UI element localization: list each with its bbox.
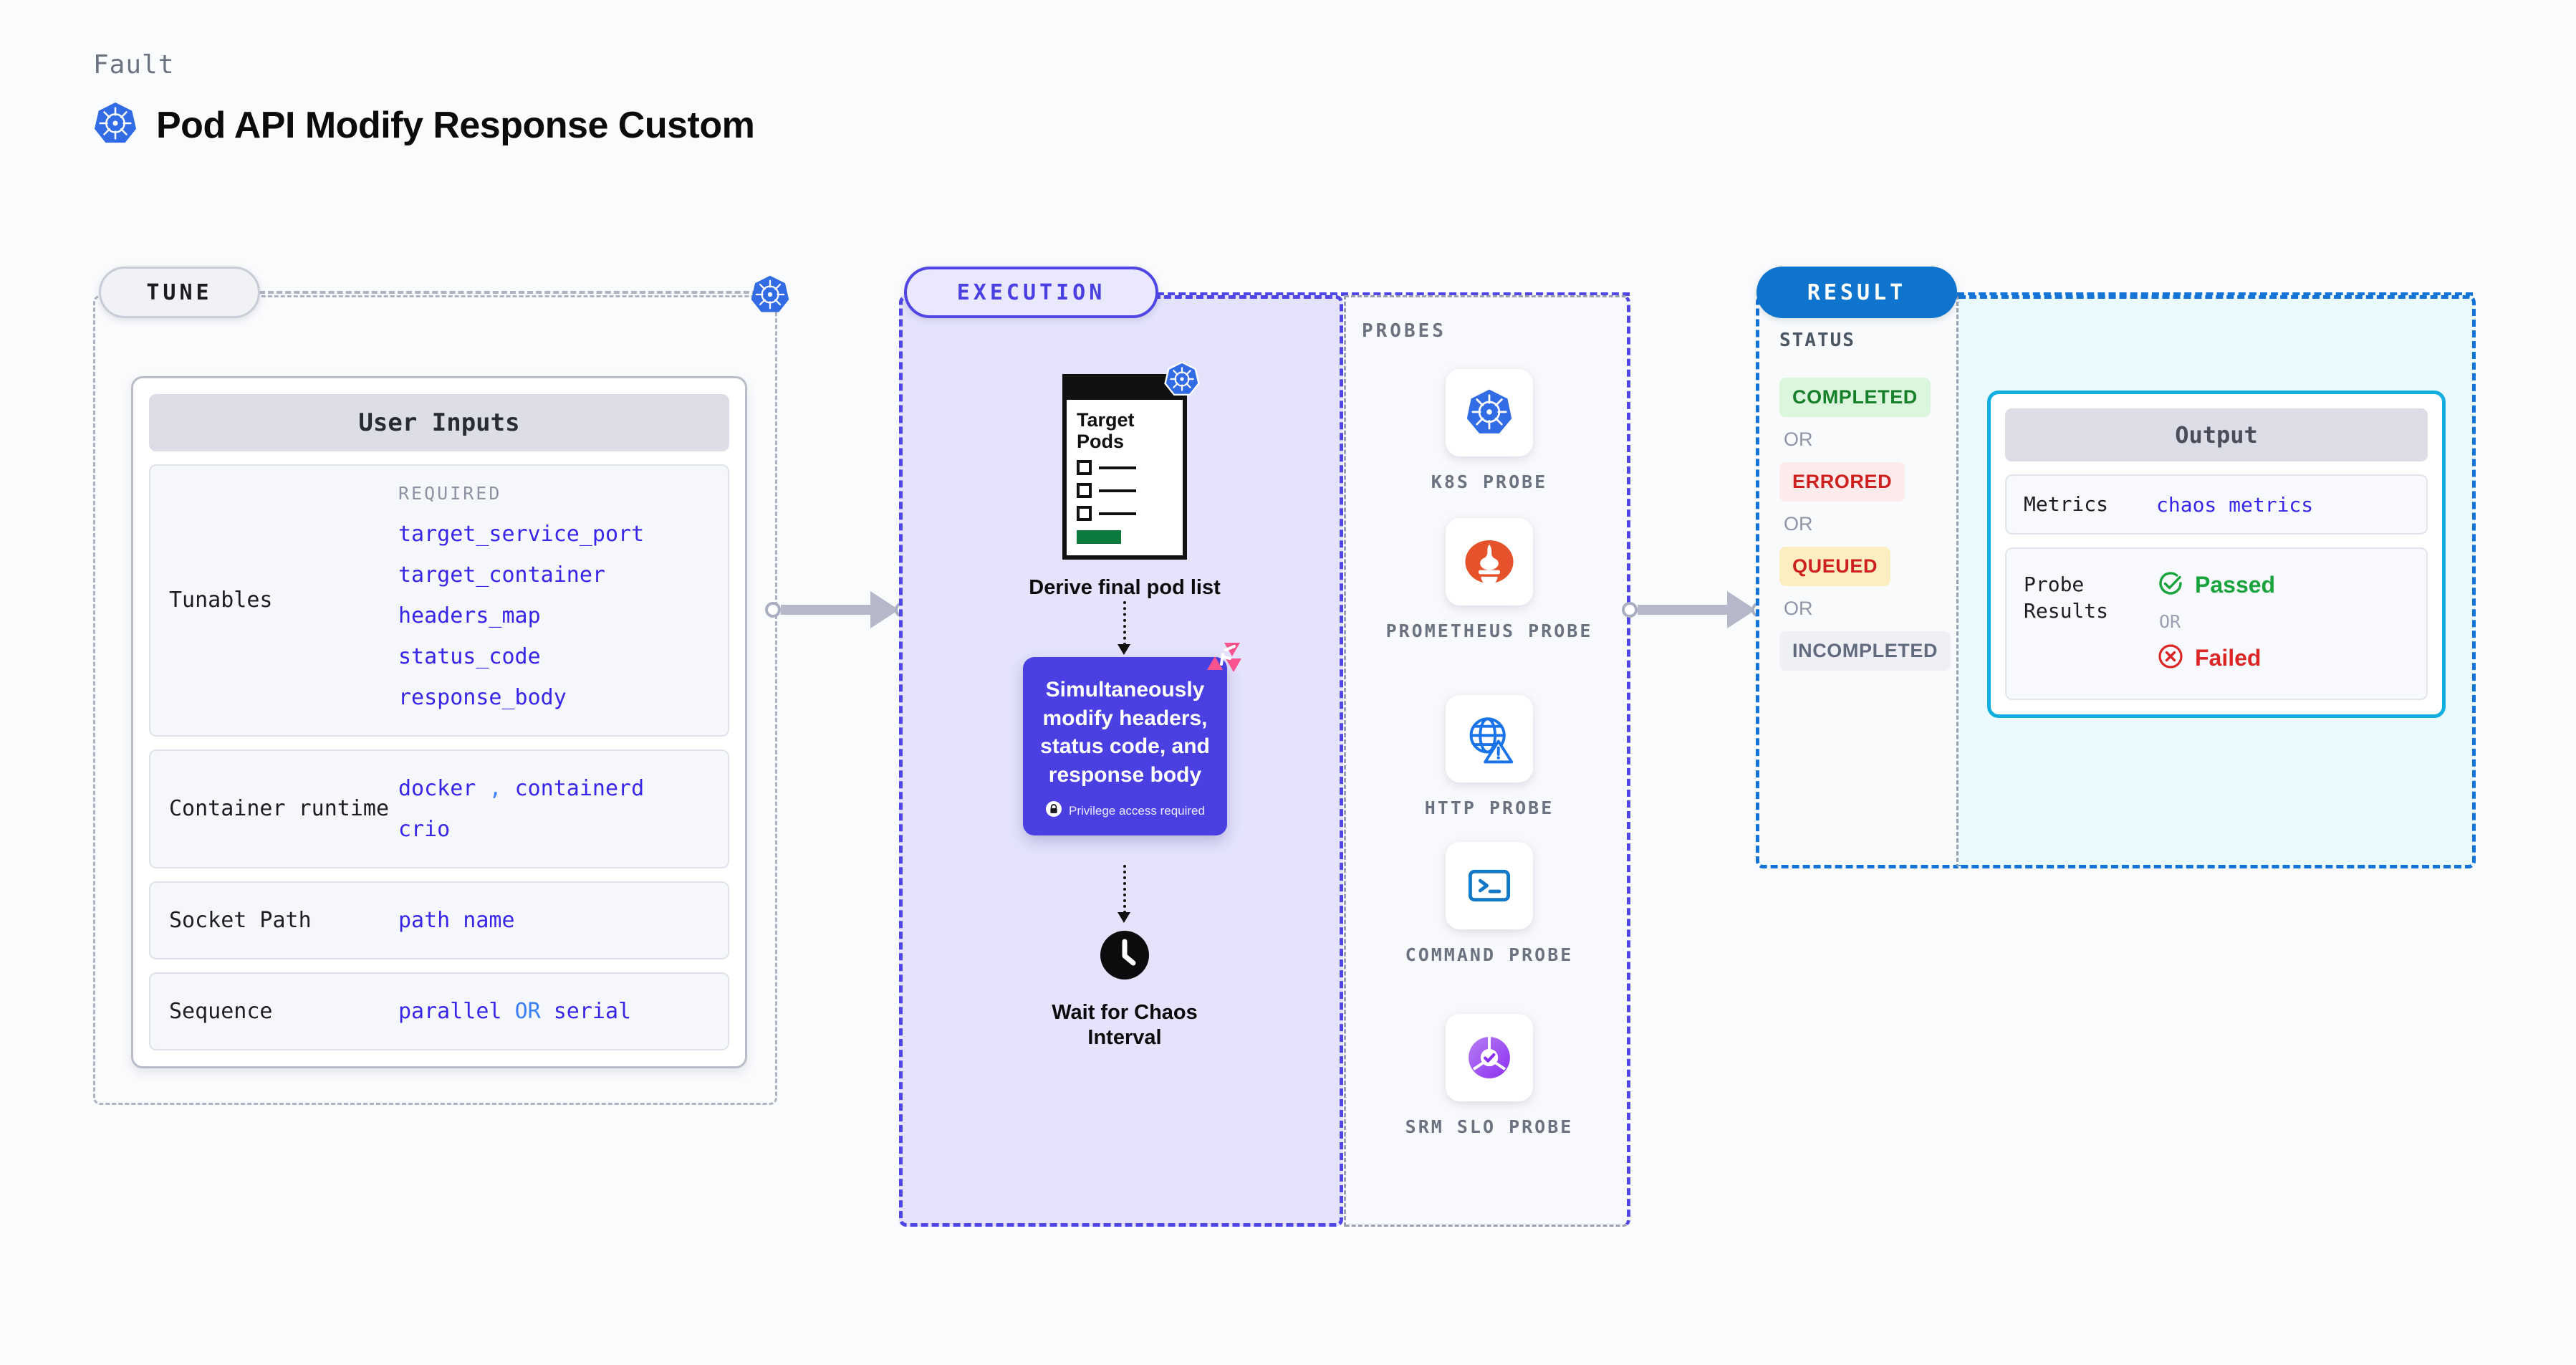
target-pods-title-line2: Pods	[1077, 431, 1173, 453]
target-pods-title-line1: Target	[1077, 410, 1173, 431]
probe-label: SRM SLO PROBE	[1346, 1114, 1633, 1139]
output-card: Output Metrics chaos metrics Probe Resul…	[1987, 391, 2446, 718]
target-pods-card: Target Pods	[1062, 374, 1187, 560]
flow-arrow-2	[1123, 865, 1126, 914]
status-badge: QUEUED	[1779, 547, 1890, 586]
connector-tune-to-execution	[765, 591, 910, 628]
chaos-pinwheel-icon	[1206, 640, 1243, 681]
tune-panel-tag[interactable]: TUNE	[99, 267, 260, 318]
result-panel-tag[interactable]: RESULT	[1756, 267, 1957, 318]
list-rule	[1099, 512, 1136, 515]
sequence-option[interactable]: parallel	[398, 999, 502, 1024]
privilege-note-text: Privilege access required	[1069, 804, 1205, 818]
sequence-separator: OR	[515, 999, 541, 1024]
socket-path-key: Socket Path	[169, 907, 398, 934]
socket-path-value[interactable]: path name	[398, 900, 515, 941]
probe-k8s[interactable]: K8S PROBE	[1346, 369, 1633, 494]
probe-label: HTTP PROBE	[1346, 795, 1633, 820]
tunables-key: Tunables	[169, 587, 398, 614]
tunables-row: Tunables REQUIRED target_service_port ta…	[149, 464, 729, 737]
output-title: Output	[2005, 408, 2428, 461]
globe-warning-icon	[1446, 695, 1533, 782]
checkbox-icon	[1077, 460, 1092, 475]
x-circle-icon	[2156, 642, 2185, 674]
probe-prometheus[interactable]: PROMETHEUS PROBE	[1346, 518, 1633, 643]
status-or: OR	[1784, 428, 1951, 451]
sequence-key: Sequence	[169, 998, 398, 1025]
kubernetes-icon	[93, 101, 138, 149]
runtime-option[interactable]: docker	[398, 776, 476, 801]
target-pods-list-item	[1077, 460, 1173, 475]
runtime-option[interactable]: crio	[398, 809, 644, 850]
probe-result-passed: Passed	[2156, 569, 2275, 601]
srm-slo-icon	[1446, 1014, 1533, 1101]
flow-arrow-1	[1123, 601, 1126, 646]
derive-pod-list-caption: Derive final pod list	[1029, 575, 1221, 600]
connector-bar	[1638, 605, 1727, 615]
kubernetes-icon	[1164, 361, 1200, 401]
probe-results-values: Passed OR Failed	[2156, 569, 2275, 674]
target-pods-list-item	[1077, 483, 1173, 498]
tunable-item[interactable]: headers_map	[398, 595, 644, 636]
probe-result-failed: Failed	[2156, 642, 2275, 674]
wait-caption-line2: Interval	[1052, 1025, 1198, 1050]
probe-command[interactable]: COMMAND PROBE	[1346, 842, 1633, 967]
flow-arrowhead-1	[1118, 644, 1130, 655]
progress-bar-indicator	[1077, 530, 1121, 544]
tune-dashed-connector	[259, 291, 775, 294]
prometheus-icon	[1446, 518, 1533, 605]
checkbox-icon	[1077, 483, 1092, 498]
connector-execution-to-result	[1622, 591, 1767, 628]
kubernetes-icon	[1446, 369, 1533, 456]
sequence-values: parallel OR serial	[398, 991, 631, 1032]
probe-label: K8S PROBE	[1346, 469, 1633, 494]
wait-caption-line1: Wait for Chaos	[1052, 1000, 1198, 1025]
probe-label: COMMAND PROBE	[1346, 942, 1633, 967]
sequence-row: Sequence parallel OR serial	[149, 972, 729, 1050]
privilege-note: Privilege access required	[1037, 800, 1213, 821]
status-badge: ERRORED	[1779, 462, 1905, 502]
page-header: Fault Pod API Modify Response Cu	[93, 50, 754, 149]
connector-bar	[781, 605, 870, 615]
status-badge: INCOMPLETED	[1779, 631, 1951, 671]
sequence-option[interactable]: serial	[554, 999, 631, 1024]
execution-panel: Target Pods	[899, 295, 1343, 1227]
flow-arrowhead-2	[1118, 912, 1130, 923]
list-rule	[1099, 489, 1136, 492]
tunable-item[interactable]: status_code	[398, 636, 644, 677]
metrics-row: Metrics chaos metrics	[2005, 474, 2428, 535]
runtime-separator: ,	[489, 776, 501, 801]
user-inputs-card: User Inputs Tunables REQUIRED target_ser…	[131, 376, 747, 1068]
fault-eyebrow: Fault	[93, 50, 754, 80]
clock-icon	[1099, 929, 1150, 985]
status-or: OR	[1784, 513, 1951, 535]
probe-label: PROMETHEUS PROBE	[1346, 618, 1633, 643]
probes-label: PROBES	[1362, 320, 1446, 342]
probe-results-key: Probe Results	[2024, 569, 2156, 624]
required-label: REQUIRED	[398, 483, 644, 504]
probes-panel: PROBES K8S PROBE	[1344, 295, 1630, 1227]
terminal-icon	[1446, 842, 1533, 929]
status-list: COMPLETED OR ERRORED OR QUEUED OR INCOMP…	[1779, 378, 1951, 671]
runtime-option[interactable]: containerd	[515, 776, 645, 801]
list-rule	[1099, 466, 1136, 469]
check-circle-icon	[2156, 569, 2185, 601]
container-runtime-row: Container runtime docker , containerd cr…	[149, 749, 729, 868]
target-pods-step: Target Pods	[903, 374, 1347, 600]
status-or: OR	[1784, 598, 1951, 620]
target-pods-list-item	[1077, 506, 1173, 521]
tunables-values: REQUIRED target_service_port target_cont…	[398, 483, 644, 718]
tunable-item[interactable]: target_container	[398, 555, 644, 595]
metrics-value[interactable]: chaos metrics	[2156, 493, 2313, 517]
probe-results-or: OR	[2159, 611, 2275, 632]
output-panel: Output Metrics chaos metrics Probe Resul…	[1959, 295, 2476, 868]
page-title: Pod API Modify Response Custom	[156, 104, 754, 147]
user-inputs-title: User Inputs	[149, 394, 729, 451]
status-badge: COMPLETED	[1779, 378, 1931, 417]
container-runtime-values: docker , containerd crio	[398, 768, 644, 850]
wait-step: Wait for Chaos Interval	[903, 929, 1347, 1050]
tune-panel: User Inputs Tunables REQUIRED target_ser…	[93, 295, 777, 1105]
probe-srm-slo[interactable]: SRM SLO PROBE	[1346, 1014, 1633, 1139]
tunable-item[interactable]: response_body	[398, 677, 644, 718]
probe-results-row: Probe Results Passed OR	[2005, 547, 2428, 700]
lock-icon	[1045, 800, 1062, 821]
chaos-action-text: Simultaneously modify headers, status co…	[1037, 676, 1213, 789]
status-label: STATUS	[1779, 330, 1855, 351]
wait-caption: Wait for Chaos Interval	[1052, 1000, 1198, 1050]
checkbox-icon	[1077, 506, 1092, 521]
connector-start-dot	[1622, 602, 1638, 618]
container-runtime-key: Container runtime	[169, 795, 398, 823]
probe-http[interactable]: HTTP PROBE	[1346, 695, 1633, 820]
execution-panel-tag[interactable]: EXECUTION	[904, 267, 1158, 318]
metrics-key: Metrics	[2024, 492, 2156, 517]
failed-label: Failed	[2195, 645, 2261, 671]
socket-path-row: Socket Path path name	[149, 881, 729, 959]
tunable-item[interactable]: target_service_port	[398, 514, 644, 555]
kubernetes-icon	[750, 274, 790, 318]
passed-label: Passed	[2195, 572, 2275, 598]
connector-start-dot	[765, 602, 781, 618]
chaos-action-card: Simultaneously modify headers, status co…	[1023, 657, 1227, 835]
title-row: Pod API Modify Response Custom	[93, 101, 754, 149]
status-panel: STATUS COMPLETED OR ERRORED OR QUEUED OR…	[1756, 295, 1959, 868]
